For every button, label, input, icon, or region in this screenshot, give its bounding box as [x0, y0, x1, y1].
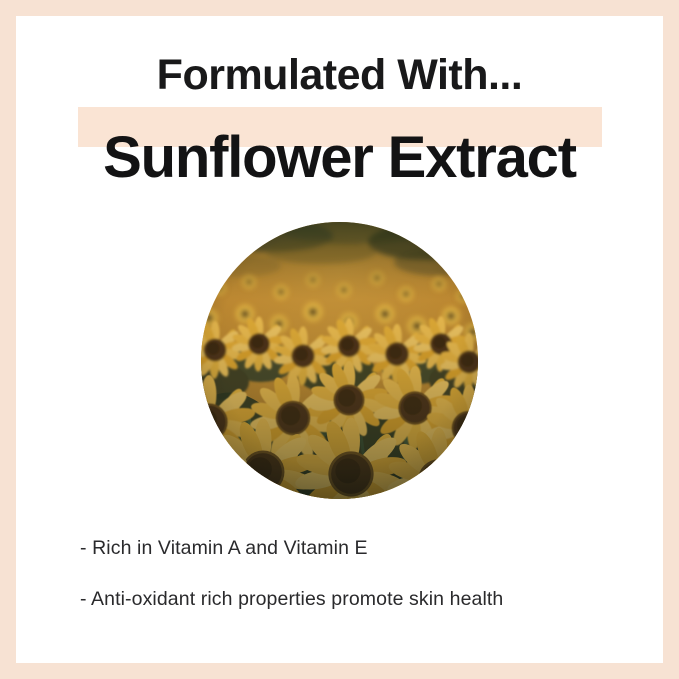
product-ingredient-infographic: Formulated With... Sunflower Extract [0, 0, 679, 679]
eyebrow-heading: Formulated With... [16, 54, 663, 97]
infographic-inner-card: Formulated With... Sunflower Extract [16, 16, 663, 663]
list-item: - Rich in Vitamin A and Vitamin E [80, 535, 620, 561]
sunflower-field-photo [201, 222, 478, 499]
sunflower-field-illustration [201, 222, 478, 499]
page-title: Sunflower Extract [16, 129, 663, 187]
benefits-list: - Rich in Vitamin A and Vitamin E - Anti… [80, 535, 620, 613]
eyebrow-heading-group: Formulated With... [16, 54, 663, 134]
list-item: - Anti-oxidant rich properties promote s… [80, 586, 620, 612]
